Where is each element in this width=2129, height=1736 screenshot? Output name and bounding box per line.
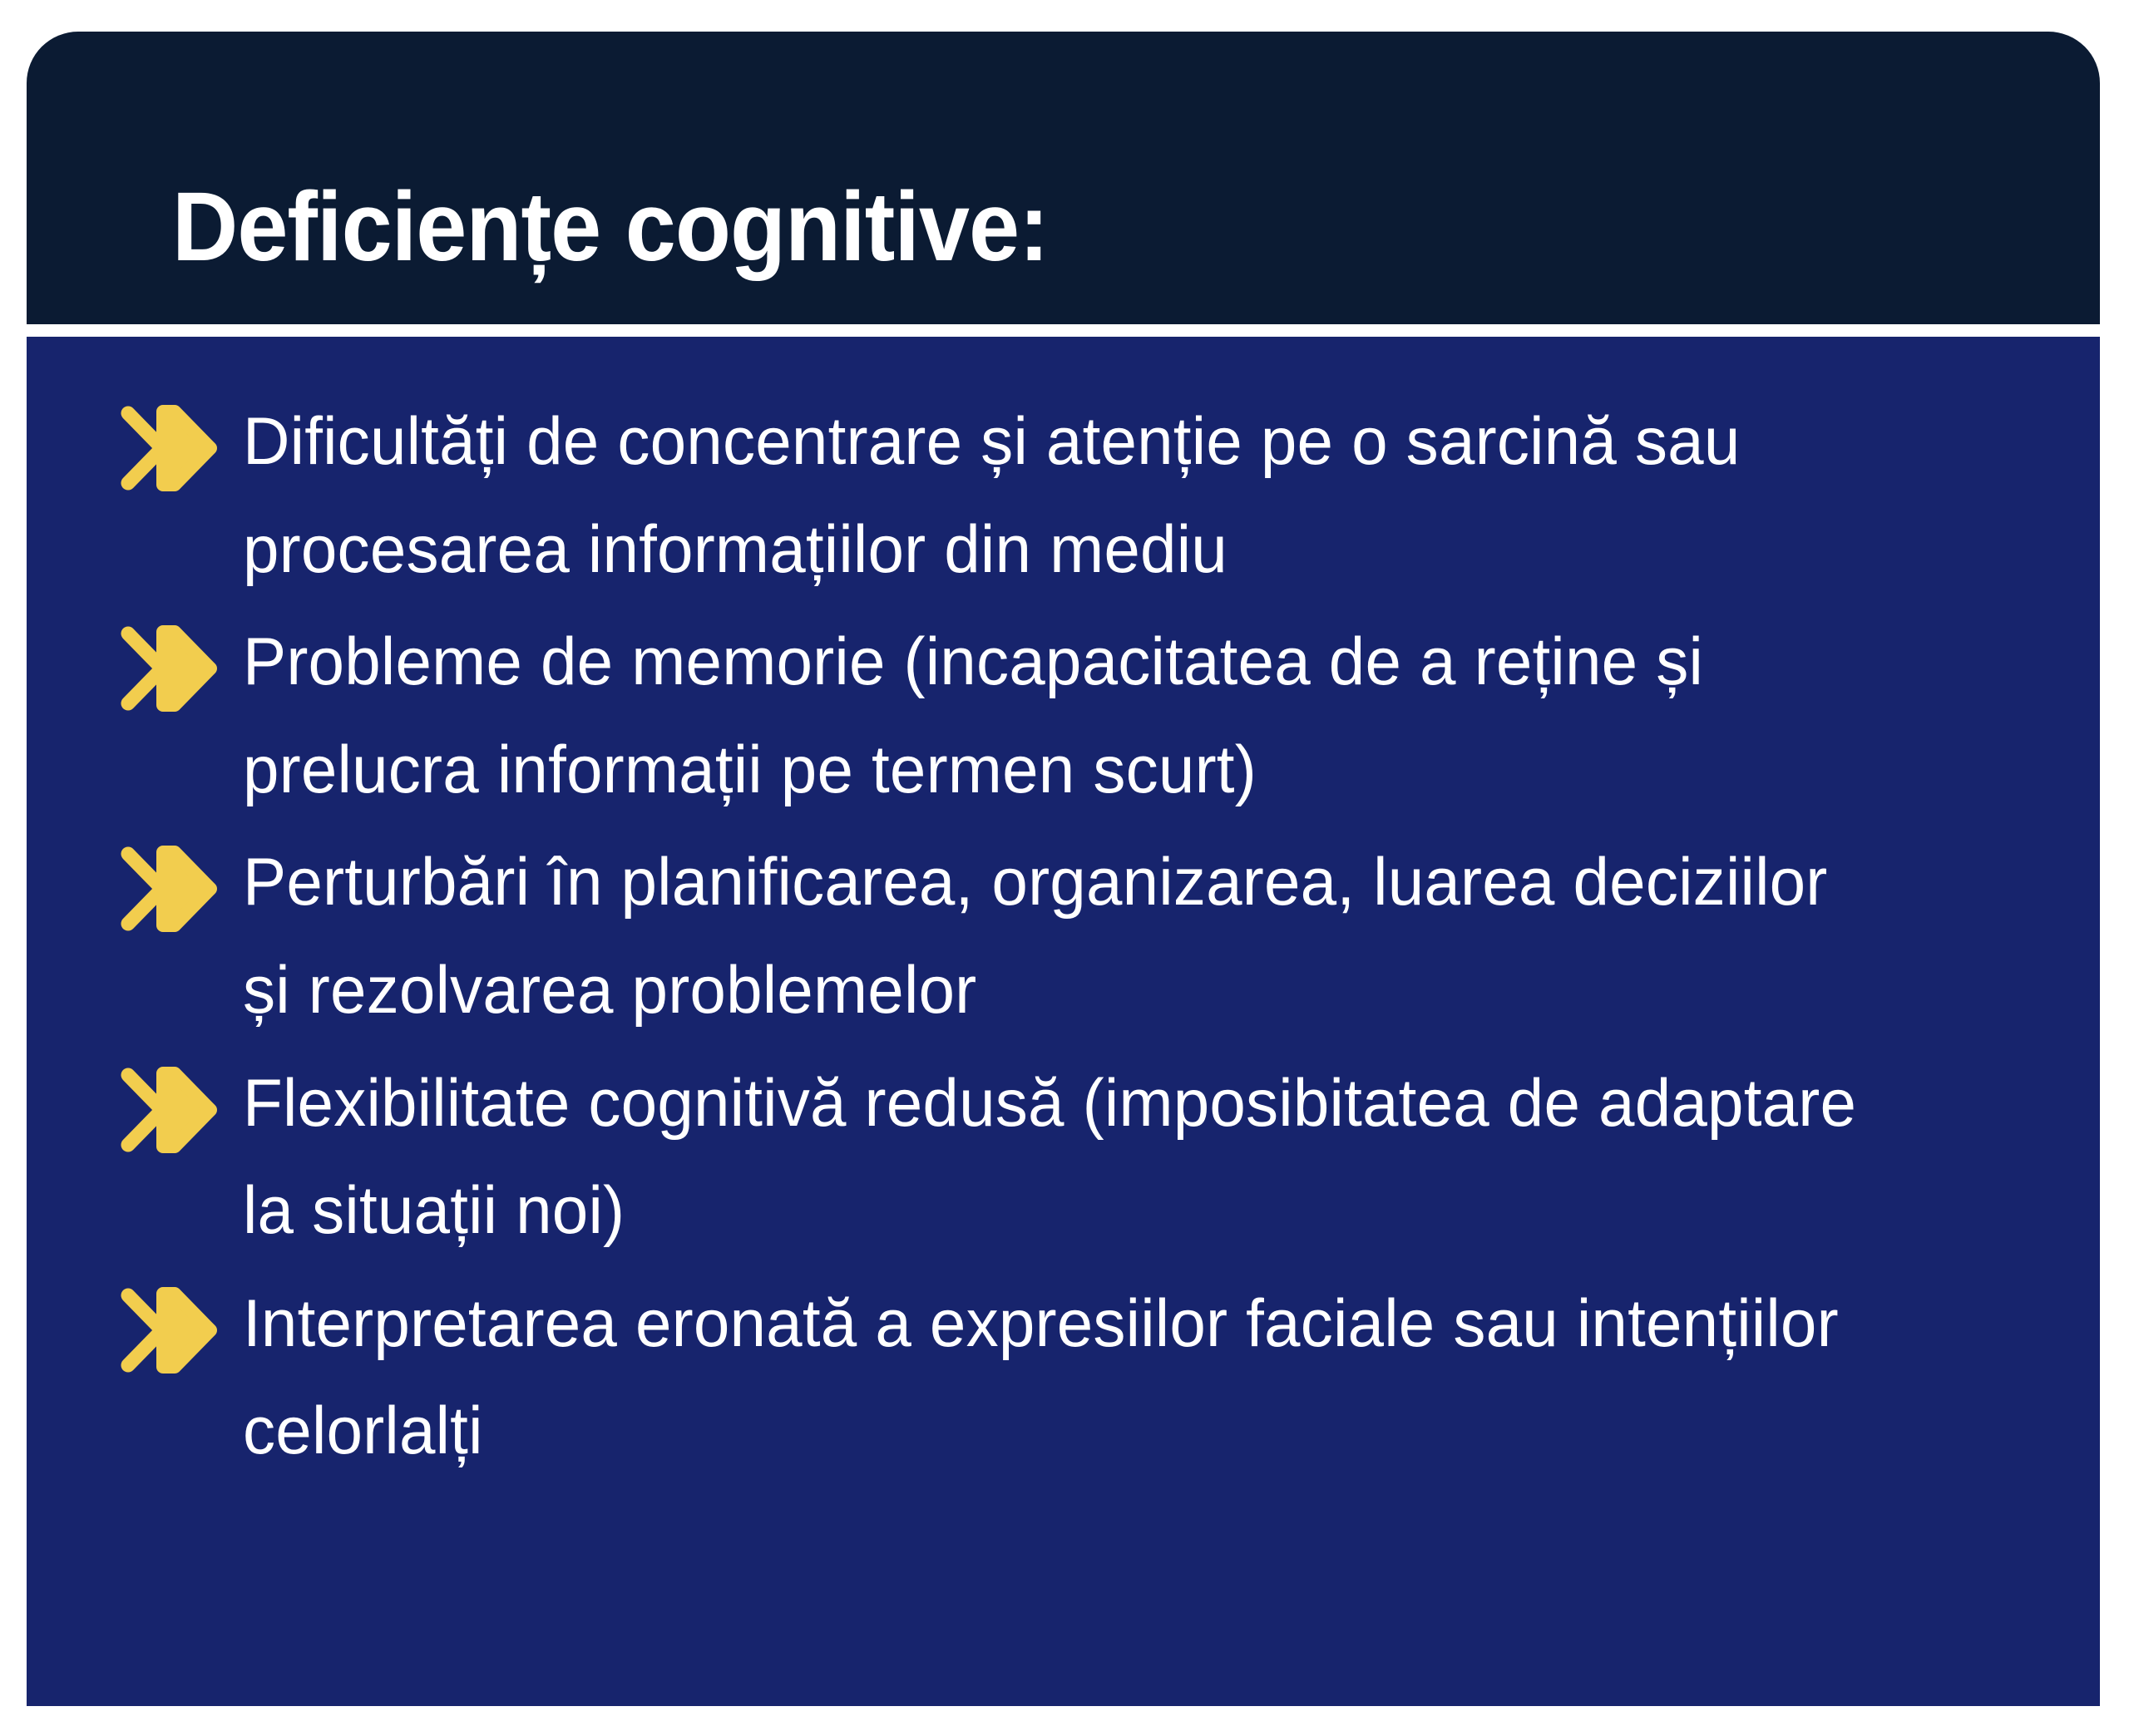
double-chevron-right-icon (116, 1067, 218, 1153)
card-header: Deficiențe cognitive: (27, 32, 2100, 324)
list-item: Interpretarea eronată a expresiilor faci… (116, 1270, 2025, 1486)
list-item-label: Dificultăți de concentrare și atenție pe… (243, 388, 1872, 604)
list-item-label: Interpretarea eronată a expresiilor faci… (243, 1270, 1872, 1486)
double-chevron-right-icon (116, 405, 218, 491)
slide-root: Deficiențe cognitive: Dificultăți de con… (0, 0, 2129, 1736)
list-item: Perturbări în planificarea, organizarea,… (116, 829, 2025, 1044)
list-item: Dificultăți de concentrare și atenție pe… (116, 388, 2025, 604)
card-body: Dificultăți de concentrare și atenție pe… (27, 337, 2100, 1706)
double-chevron-right-icon (116, 1287, 218, 1374)
list-item: Probleme de memorie (incapacitatea de a … (116, 609, 2025, 824)
double-chevron-right-icon (116, 846, 218, 932)
list-item-label: Flexibilitate cognitivă redusă (imposibi… (243, 1050, 1872, 1265)
bullet-list: Dificultăți de concentrare și atenție pe… (116, 388, 2025, 1486)
page-title: Deficiențe cognitive: (172, 178, 1049, 276)
list-item: Flexibilitate cognitivă redusă (imposibi… (116, 1050, 2025, 1265)
list-item-label: Perturbări în planificarea, organizarea,… (243, 829, 1872, 1044)
list-item-label: Probleme de memorie (incapacitatea de a … (243, 609, 1872, 824)
double-chevron-right-icon (116, 625, 218, 712)
